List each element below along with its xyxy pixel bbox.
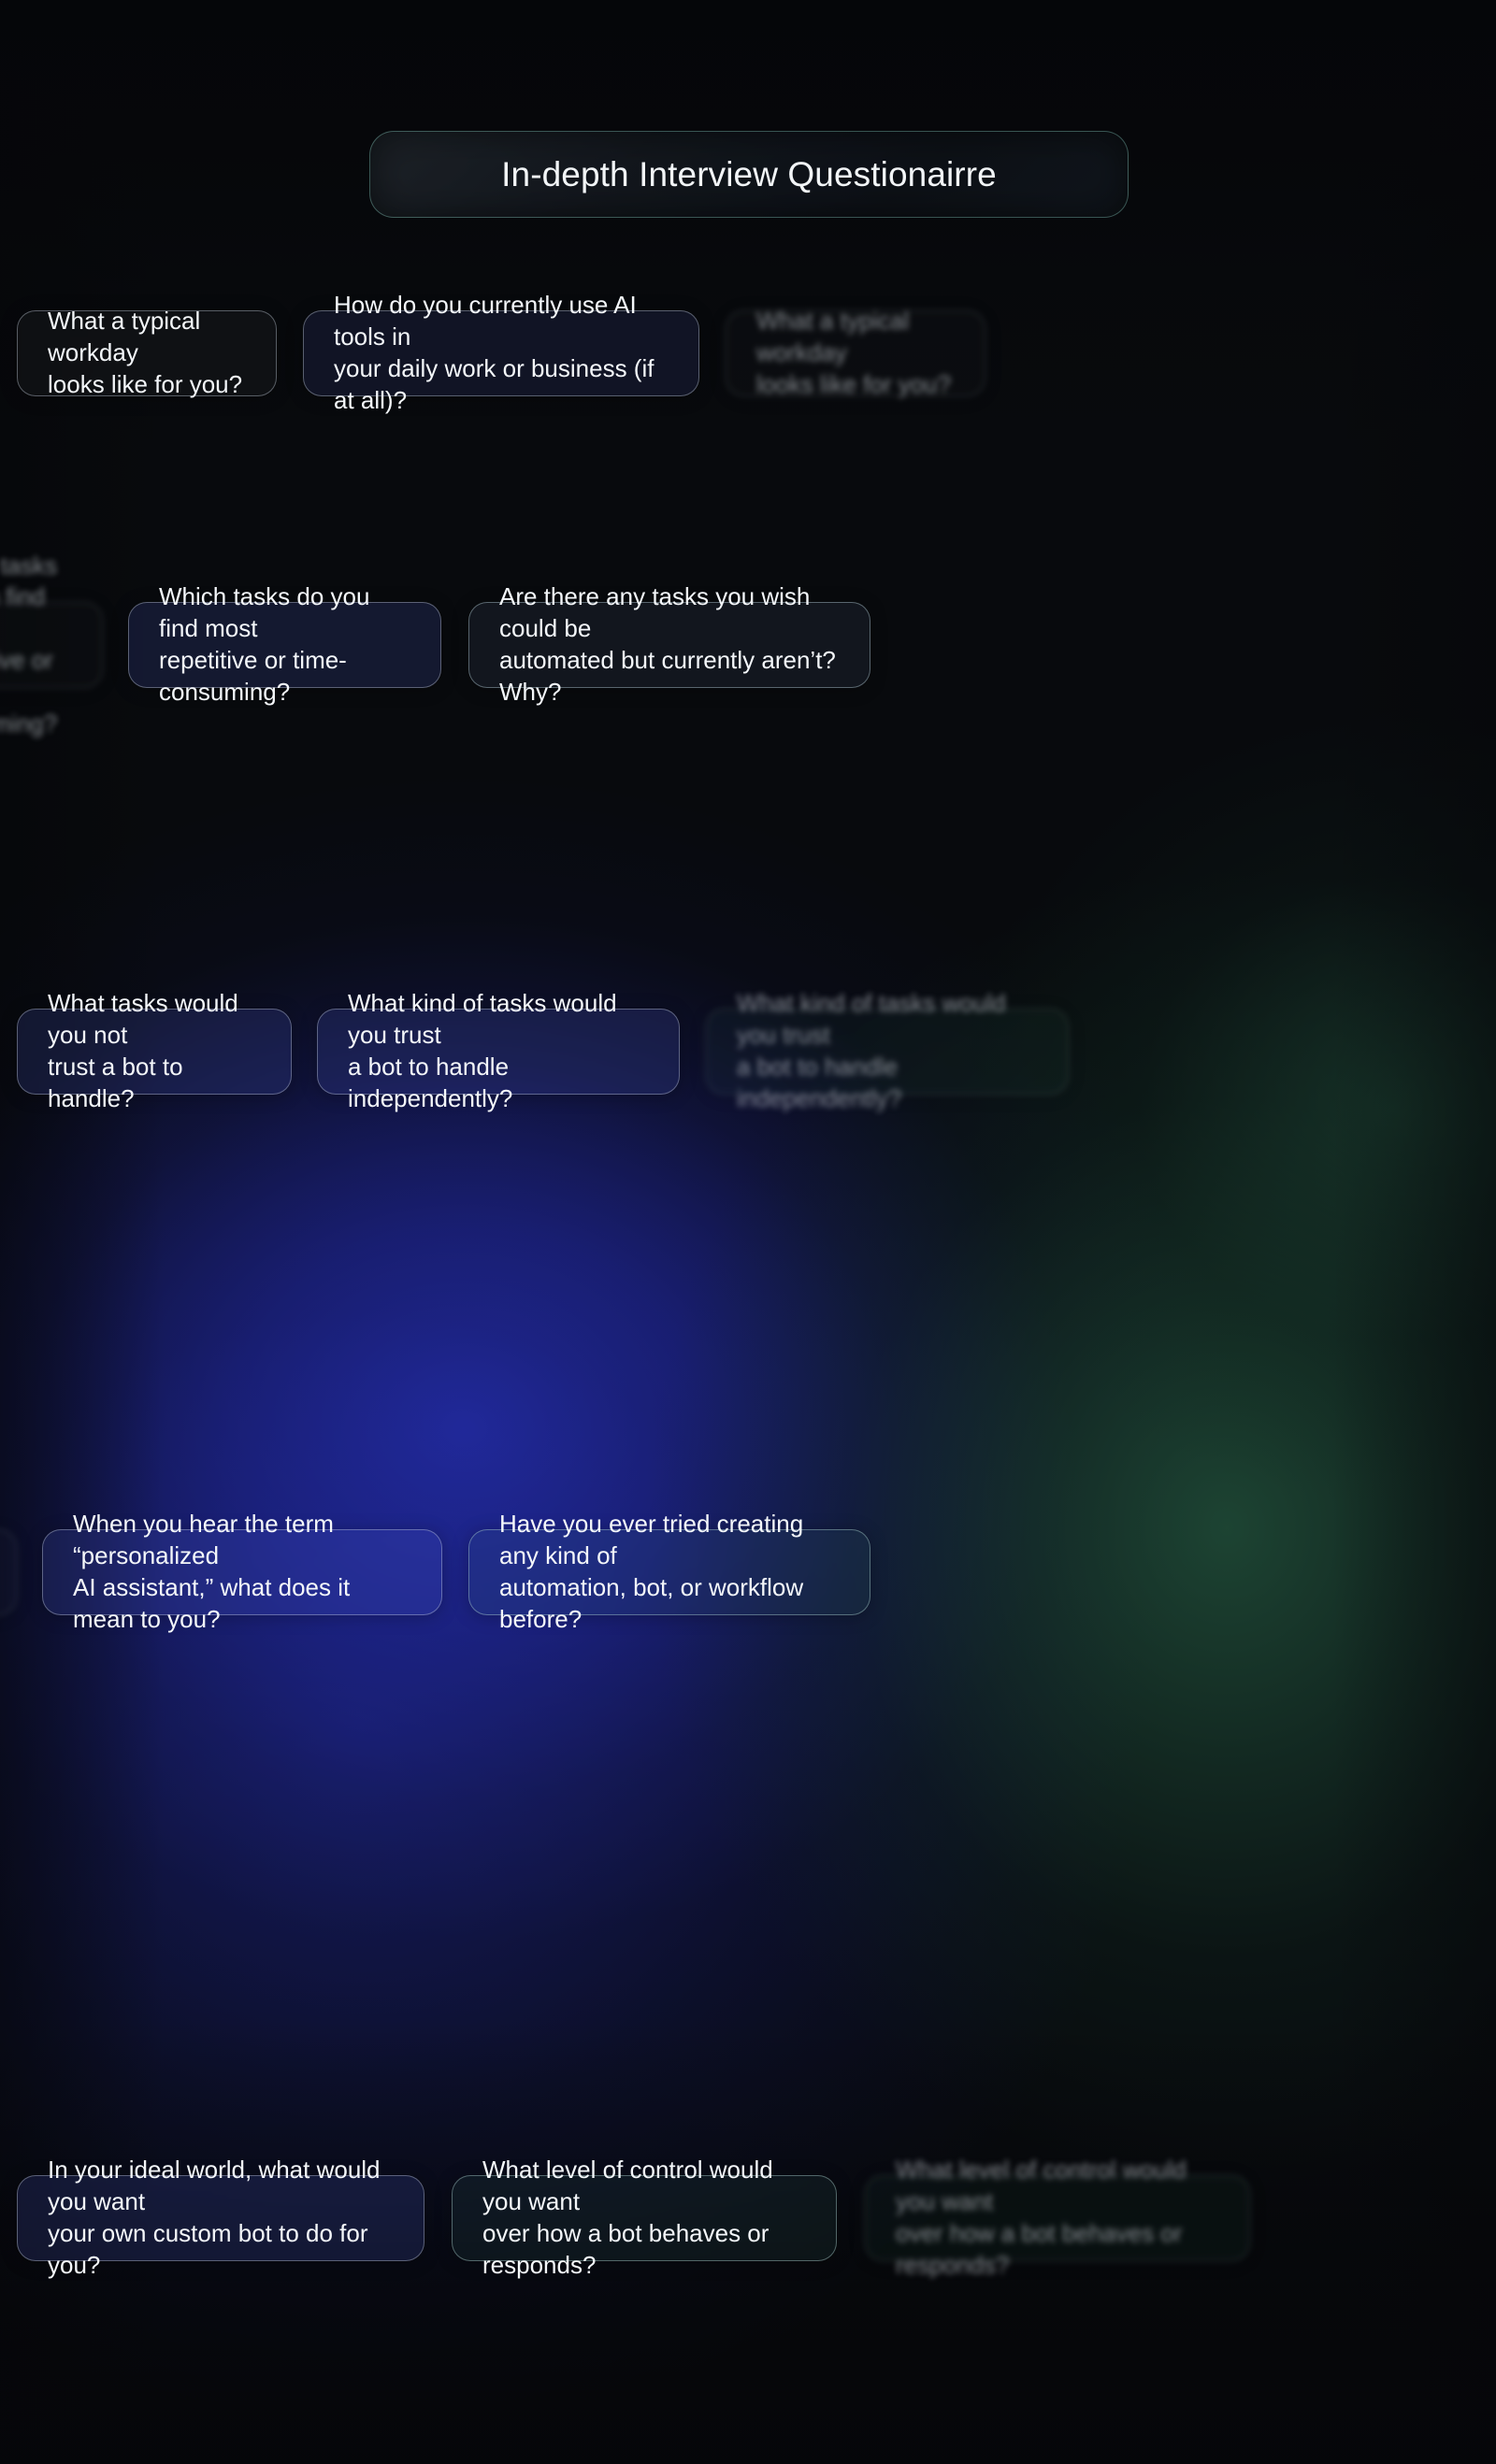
question-card-automation-before[interactable]: Have you ever tried creating any kind of… — [468, 1529, 870, 1615]
question-text: Which tasks do you find most repetitive … — [0, 551, 102, 740]
question-text: In your ideal world, what would you want… — [18, 2155, 424, 2281]
question-text: What kind of tasks would you trust a bot… — [318, 988, 679, 1114]
question-card-personalized[interactable]: When you hear the term “personalized AI … — [42, 1529, 442, 1615]
question-text: Are there any tasks you wish could be au… — [469, 581, 870, 708]
question-text: How do you currently use AI tools in you… — [304, 290, 698, 416]
question-card-trust-independently[interactable]: What kind of tasks would you trust a bot… — [317, 1009, 680, 1095]
question-text: What level of control would you want ove… — [453, 2155, 836, 2281]
page-title-pill: In-depth Interview Questionairre — [369, 131, 1129, 218]
question-card-level-control[interactable]: What level of control would you want ove… — [452, 2175, 837, 2261]
question-card-ai-tools[interactable]: How do you currently use AI tools in you… — [303, 310, 699, 396]
question-card-ideal-world[interactable]: In your ideal world, what would you want… — [17, 2175, 424, 2261]
question-card-repetitive-clone: Which tasks do you find most repetitive … — [0, 602, 103, 688]
question-text: What level of control would you want ove… — [866, 2155, 1249, 2281]
question-card-trust-independently-clone: What kind of tasks would you trust a bot… — [706, 1009, 1069, 1095]
question-card-level-control-clone: What level of control would you want ove… — [865, 2175, 1250, 2261]
question-card-automated[interactable]: Are there any tasks you wish could be au… — [468, 602, 870, 688]
question-card-personalized-clone: When you hear the term “personalized AI … — [0, 1529, 17, 1615]
page-title: In-depth Interview Questionairre — [501, 155, 997, 194]
question-text: What a typical workday looks like for yo… — [18, 306, 276, 400]
question-card-workday-clone: What a typical workday looks like for yo… — [726, 310, 985, 396]
question-text: What a typical workday looks like for yo… — [726, 306, 985, 400]
question-card-not-trust[interactable]: What tasks would you not trust a bot to … — [17, 1009, 292, 1095]
question-text: When you hear the term “personalized AI … — [0, 1509, 16, 1635]
question-text: Have you ever tried creating any kind of… — [469, 1509, 870, 1635]
question-card-workday[interactable]: What a typical workday looks like for yo… — [17, 310, 277, 396]
question-text: When you hear the term “personalized AI … — [43, 1509, 441, 1635]
question-text: Which tasks do you find most repetitive … — [129, 581, 440, 708]
question-card-repetitive[interactable]: Which tasks do you find most repetitive … — [128, 602, 441, 688]
questionnaire-board: In-depth Interview Questionairre What a … — [0, 0, 1496, 2464]
question-text: What kind of tasks would you trust a bot… — [707, 988, 1068, 1114]
question-text: What tasks would you not trust a bot to … — [18, 988, 291, 1114]
